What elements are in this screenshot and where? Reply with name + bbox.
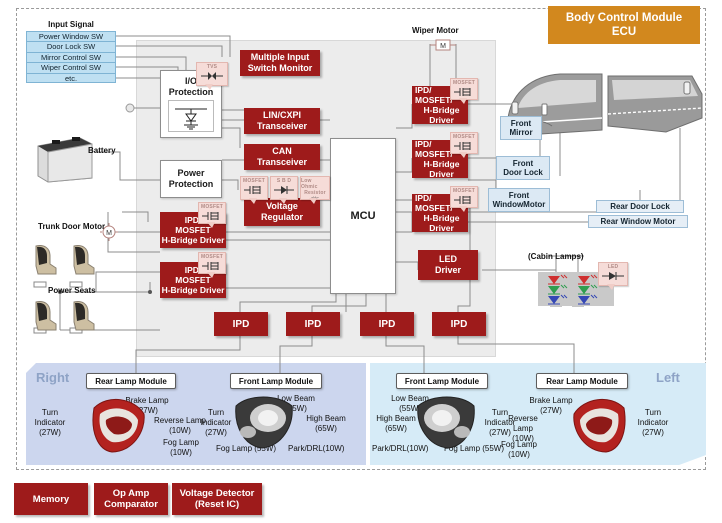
input-signal-item-0[interactable]: Power Window SW (26, 31, 116, 41)
legend-vdet-line1: Voltage Detector (180, 488, 255, 499)
lr-rev-l1: Reverse (500, 414, 546, 424)
right-front-head-lamp-image (232, 392, 298, 454)
power-seat-icon (68, 298, 98, 334)
power-protection-block[interactable]: Power Protection (160, 160, 222, 198)
input-signal-item-4[interactable]: etc. (26, 73, 116, 83)
ipd-label: IPD (233, 319, 250, 330)
legend-memory-block[interactable]: Memory (14, 483, 88, 515)
led-tag: LED (598, 262, 628, 286)
rear-window-motor-text: Rear Window Motor (600, 217, 675, 227)
driver-left1-line2: MOSFET (175, 225, 210, 235)
led-driver-line1: LED (439, 254, 457, 265)
front-window-motor-line2: WindowMotor (493, 200, 546, 210)
input-signal-heading: Input Signal (26, 20, 116, 30)
left-front-head-lamp-image (412, 392, 478, 454)
rf-turn-l3: (27W) (196, 428, 236, 438)
legend-opamp-line1: Op Amp (113, 488, 150, 499)
right-rear-turn-indicator-label: Turn Indicator (27W) (30, 408, 70, 438)
mosfet-tag: MOSFET (450, 78, 478, 100)
rr-turn-l1: Turn (30, 408, 70, 418)
ipd-label: IPD (379, 319, 396, 330)
rr-turn-l2: Indicator (30, 418, 70, 428)
driver-right1-line3: H-Bridge Driver (415, 105, 468, 125)
low-ohmic-resistor-tag: Low Ohmic Resistor (300, 176, 330, 200)
input-signal-item-3[interactable]: Wiper Control SW (26, 62, 116, 72)
can-transceiver-block[interactable]: CAN Transceiver (244, 144, 320, 170)
title-line1: Body Control Module (566, 11, 682, 25)
cabin-lamps-label: (Cabin Lamps) (528, 252, 584, 262)
rear-door-lock-text: Rear Door Lock (610, 202, 670, 212)
diagram-root: Body Control Module ECU (0, 0, 722, 523)
mosfet-tag: MOSFET (240, 176, 268, 200)
vehicle-front-door-image (498, 68, 608, 154)
mism-line1: Multiple Input (251, 52, 310, 63)
mosfet-tag: MOSFET (450, 132, 478, 154)
ipd-block-1[interactable]: IPD (214, 312, 268, 336)
left-side-word: Left (656, 370, 680, 385)
input-signal-list: Power Window SW Door Lock SW Mirror Cont… (26, 31, 116, 83)
input-signal-item-2[interactable]: Mirror Control SW (26, 52, 116, 62)
wiper-motor-symbol: M (424, 38, 462, 52)
title-badge: Body Control Module ECU (548, 6, 700, 44)
ipd-block-4[interactable]: IPD (432, 312, 486, 336)
mosfet-icon (242, 184, 266, 197)
left-rear-lamp-module-box[interactable]: Rear Lamp Module (536, 373, 628, 389)
mosfet-tag: MOSFET (198, 252, 226, 274)
front-window-motor-label: Front WindowMotor (488, 188, 550, 212)
lr-turn-l2: Indicator (630, 418, 676, 428)
power-seats-label: Power Seats (48, 286, 96, 296)
tvs-icon (199, 70, 225, 82)
vehicle-rear-door-image (606, 70, 706, 142)
lr-fog-l2: (10W) (492, 450, 546, 460)
front-mirror-line1: Front (511, 119, 531, 129)
driver-right3-line2: MOSFET/ (415, 203, 453, 213)
right-rear-fog-lamp-label: Fog Lamp (10W) (150, 438, 212, 458)
led-icon (600, 270, 626, 282)
lin-line2: Transceiver (257, 121, 307, 132)
mosfet-icon (452, 86, 476, 98)
right-front-lamp-module-box[interactable]: Front Lamp Module (230, 373, 322, 389)
ipd-block-2[interactable]: IPD (286, 312, 340, 336)
ipd-label: IPD (451, 319, 468, 330)
left-front-lamp-module-box[interactable]: Front Lamp Module (396, 373, 488, 389)
legend-vdet-line2: (Reset IC) (195, 499, 239, 510)
mcu-label: MCU (350, 211, 375, 222)
mosfet-tag: MOSFET (450, 186, 478, 208)
rear-door-lock-label: Rear Door Lock (596, 200, 684, 213)
driver-right3-line1: IPD/ (415, 193, 432, 203)
driver-right2-line1: IPD/ (415, 139, 432, 149)
driver-left1-line3: H-Bridge Driver (162, 235, 225, 245)
sbd-tag: S B D (270, 176, 298, 200)
resistor-icon (302, 196, 328, 199)
driver-right1-line1: IPD/ (415, 85, 432, 95)
mosfet-icon (452, 140, 476, 152)
driver-right3-line3: H-Bridge Driver (415, 213, 468, 233)
legend-opamp-block[interactable]: Op Amp Comparator (94, 483, 168, 515)
right-rear-lamp-module-box[interactable]: Rear Lamp Module (86, 373, 176, 389)
vreg-line2: Regulator (261, 212, 303, 223)
legend-opamp-line2: Comparator (104, 499, 158, 510)
left-rear-turn-indicator-label: Turn Indicator (27W) (630, 408, 676, 438)
right-front-turn-indicator-label: Turn Indicator (27W) (196, 408, 236, 438)
mcu-block[interactable]: MCU (330, 138, 396, 294)
lr-turn-l3: (27W) (630, 428, 676, 438)
rf-turn-l2: Indicator (196, 418, 236, 428)
can-line1: CAN (272, 146, 292, 157)
left-front-module-label: Front Lamp Module (405, 377, 479, 386)
wiper-motor-label: Wiper Motor (412, 26, 459, 36)
left-rear-tail-lamp-image (568, 392, 630, 458)
input-signal-item-1[interactable]: Door Lock SW (26, 41, 116, 51)
driver-left2-line3: H-Bridge Driver (162, 285, 225, 295)
driver-left2-line2: MOSFET (175, 275, 210, 285)
mosfet-icon (452, 194, 476, 206)
power-seat-icon (68, 242, 98, 278)
lr-turn-l1: Turn (630, 408, 676, 418)
front-mirror-label: Front Mirror (500, 116, 542, 140)
driver-right2-line2: MOSFET/ (415, 149, 453, 159)
ipd-block-3[interactable]: IPD (360, 312, 414, 336)
battery-label: Battery (88, 146, 116, 156)
front-window-motor-line1: Front (509, 191, 529, 201)
right-rear-tail-lamp-image (88, 392, 150, 458)
svg-text:M: M (106, 230, 112, 237)
rf-high-l2: (65W) (296, 424, 356, 434)
left-rear-fog-lamp-label: Fog Lamp (10W) (492, 440, 546, 460)
right-side-word: Right (36, 370, 69, 385)
power-protection-line1: Power (177, 168, 204, 179)
rf-turn-l1: Turn (196, 408, 236, 418)
lin-cxpi-transceiver-block[interactable]: LIN/CXPI Transceiver (244, 108, 320, 134)
mosfet-tag: MOSFET (198, 202, 226, 224)
mism-line2: Switch Monitor (248, 63, 313, 74)
svg-text:M: M (440, 43, 446, 50)
front-door-lock-line2: Door Lock (503, 168, 543, 178)
power-protection-line2: Protection (169, 179, 214, 190)
right-rear-module-label: Rear Lamp Module (95, 377, 167, 386)
lr-rev-l2: Lamp (500, 424, 546, 434)
front-door-lock-line1: Front (513, 159, 533, 169)
mosfet-icon (200, 210, 224, 222)
tvs-diode-symbol (168, 100, 214, 132)
left-rear-module-label: Rear Lamp Module (546, 377, 618, 386)
low-ohmic-tag-line1: Low Ohmic (301, 178, 329, 190)
title-line2: ECU (612, 25, 636, 39)
sbd-icon (272, 184, 296, 197)
rr-fog-l1: Fog Lamp (150, 438, 212, 448)
legend-voltage-detector-block[interactable]: Voltage Detector (Reset IC) (172, 483, 262, 515)
can-line2: Transceiver (257, 157, 307, 168)
mosfet-icon (200, 260, 224, 272)
right-front-module-label: Front Lamp Module (239, 377, 313, 386)
lr-fog-l1: Fog Lamp (492, 440, 546, 450)
right-front-high-beam-label: High Beam (65W) (296, 414, 356, 434)
multiple-input-switch-monitor-block[interactable]: Multiple Input Switch Monitor (240, 50, 320, 76)
led-driver-line2: Driver (435, 265, 461, 276)
ipd-label: IPD (305, 319, 322, 330)
battery-icon (34, 132, 96, 184)
front-door-lock-label: Front Door Lock (496, 156, 550, 180)
rf-high-l1: High Beam (296, 414, 356, 424)
power-seat-icon (30, 298, 60, 334)
lin-line1: LIN/CXPI (263, 110, 301, 121)
rr-fog-l2: (10W) (150, 448, 212, 458)
rr-turn-l3: (27W) (30, 428, 70, 438)
tvs-tag: TVS (196, 62, 228, 86)
front-mirror-line2: Mirror (509, 128, 532, 138)
driver-right2-line3: H-Bridge Driver (415, 159, 468, 179)
rear-window-motor-label: Rear Window Motor (588, 215, 688, 228)
power-seat-icon (30, 242, 60, 278)
legend-memory-label: Memory (33, 494, 69, 505)
led-driver-block[interactable]: LED Driver (418, 250, 478, 280)
driver-right1-line2: MOSFET/ (415, 95, 453, 105)
trunk-door-motor-label: Trunk Door Motor (38, 222, 105, 232)
